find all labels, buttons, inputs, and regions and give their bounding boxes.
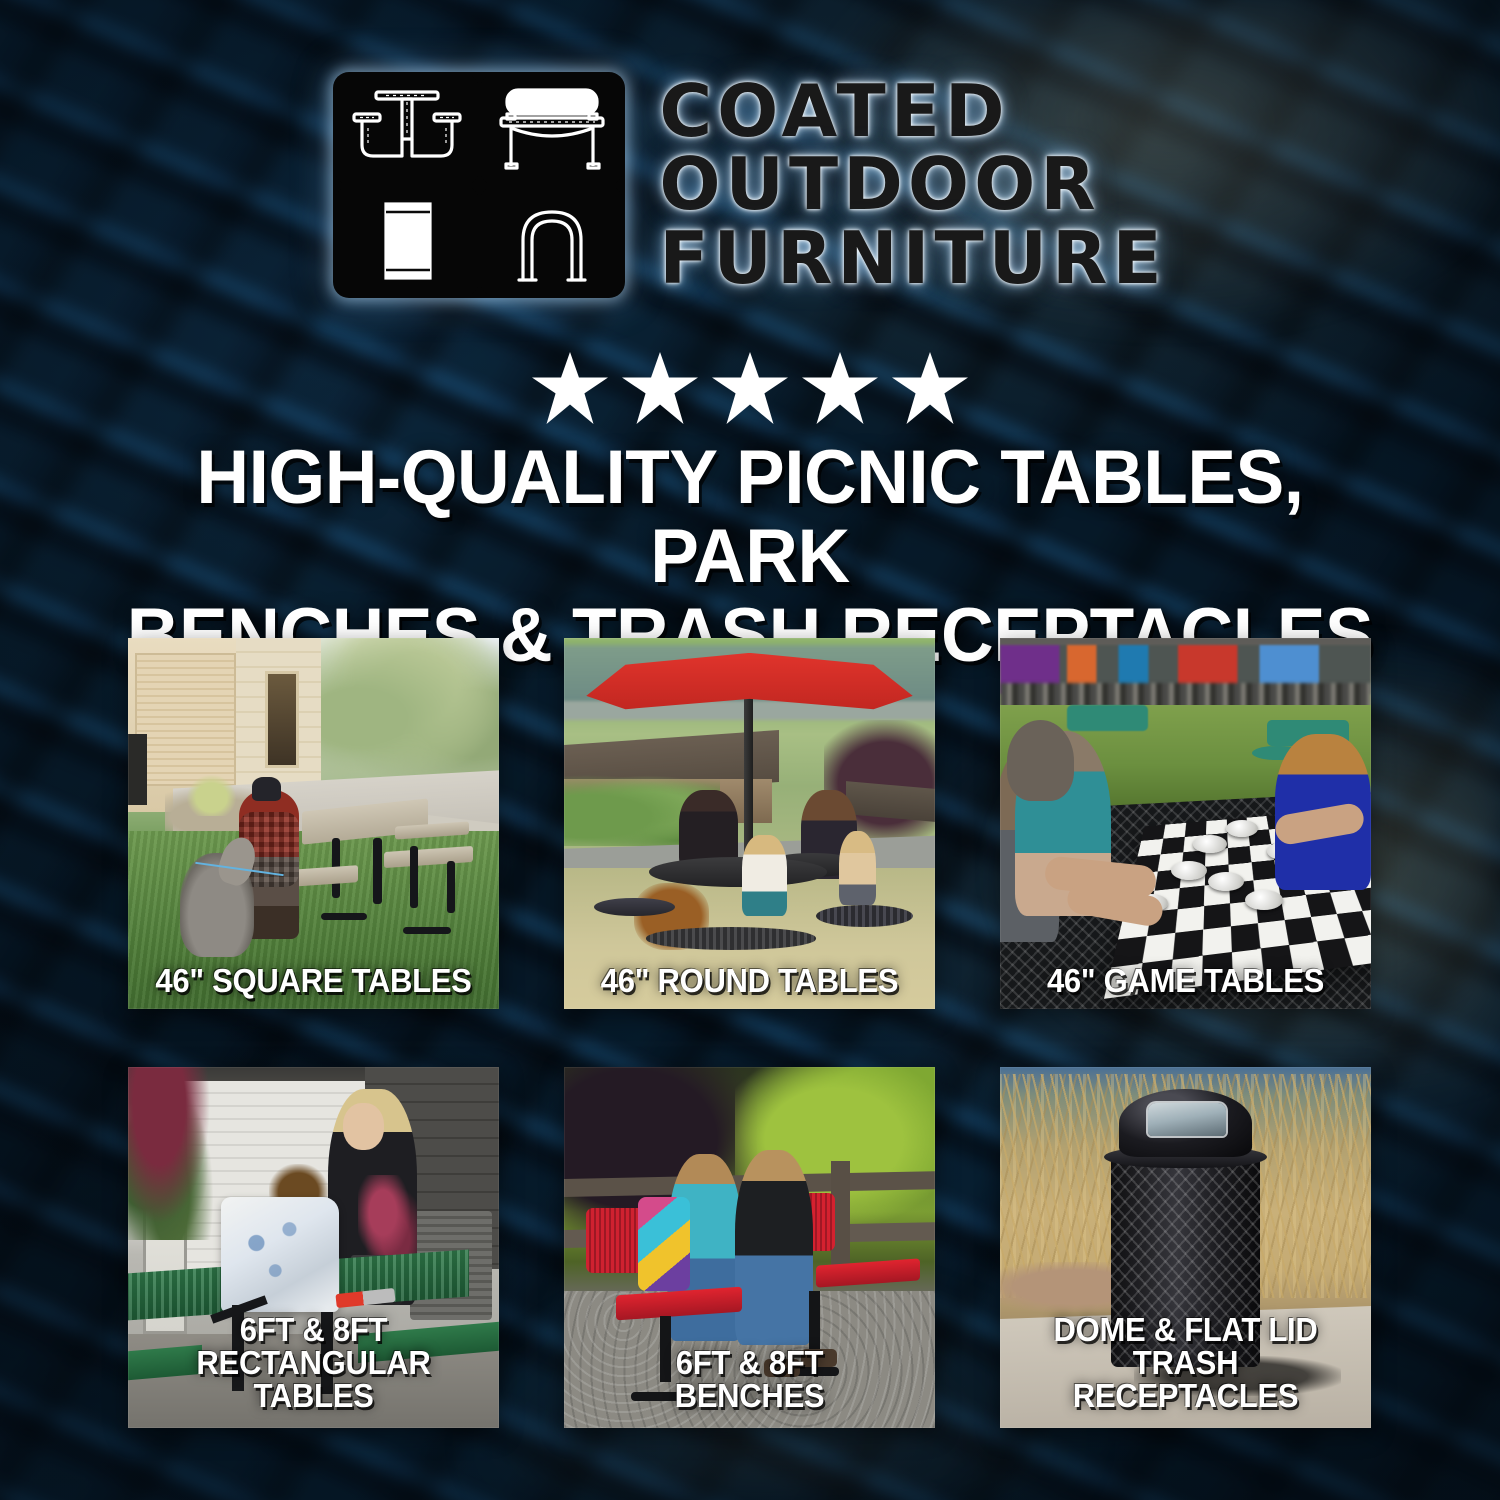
product-caption-square-tables: 46" SQUARE TABLES <box>145 964 482 997</box>
wordmark-line-1: COATED <box>659 77 1009 146</box>
star-icon-2 <box>622 352 698 424</box>
picnic-table-icon <box>336 75 478 184</box>
product-caption-round-tables: 46" ROUND TABLES <box>581 964 918 997</box>
brand-logo: COATED OUTDOOR FURNITURE <box>0 72 1500 298</box>
wordmark-line-2: OUTDOOR <box>659 150 1100 219</box>
product-tile-rectangular-tables[interactable]: 6FT & 8FT RECTANGULAR TABLES <box>128 1067 499 1428</box>
product-caption-game-tables: 46" GAME TABLES <box>1017 964 1354 997</box>
product-tile-game-tables[interactable]: 46" GAME TABLES <box>1000 638 1371 1009</box>
product-caption-benches: 6FT & 8FT BENCHES <box>581 1346 918 1412</box>
star-icon-3 <box>712 352 788 424</box>
brand-wordmark: COATED OUTDOOR FURNITURE <box>659 77 1166 292</box>
bike-rack-icon <box>481 187 623 296</box>
product-caption-rectangular-tables: 6FT & 8FT RECTANGULAR TABLES <box>145 1313 482 1412</box>
headline-line-1: HIGH-QUALITY PICNIC TABLES, PARK <box>88 438 1413 596</box>
product-tile-round-tables[interactable]: 46" ROUND TABLES <box>564 638 935 1009</box>
logo-icon-grid <box>333 72 625 298</box>
bench-icon <box>481 75 623 184</box>
product-tile-trash-receptacles[interactable]: DOME & FLAT LID TRASH RECEPTACLES <box>1000 1067 1371 1428</box>
product-tile-benches[interactable]: 6FT & 8FT BENCHES <box>564 1067 935 1428</box>
star-icon-5 <box>892 352 968 424</box>
product-photo-square-tables <box>128 638 499 1009</box>
star-icon-1 <box>532 352 608 424</box>
wordmark-line-3: FURNITURE <box>659 224 1166 293</box>
trash-receptacle-icon <box>336 187 478 296</box>
product-caption-trash-receptacles: DOME & FLAT LID TRASH RECEPTACLES <box>1017 1313 1354 1412</box>
product-photo-game-tables <box>1000 638 1371 1009</box>
star-icon-4 <box>802 352 878 424</box>
product-photo-round-tables <box>564 638 935 1009</box>
star-rating <box>0 352 1500 424</box>
product-grid: 46" SQUARE TABLES <box>128 638 1372 1428</box>
promo-banner: COATED OUTDOOR FURNITURE HIGH-QUALITY PI… <box>0 0 1500 1500</box>
product-tile-square-tables[interactable]: 46" SQUARE TABLES <box>128 638 499 1009</box>
